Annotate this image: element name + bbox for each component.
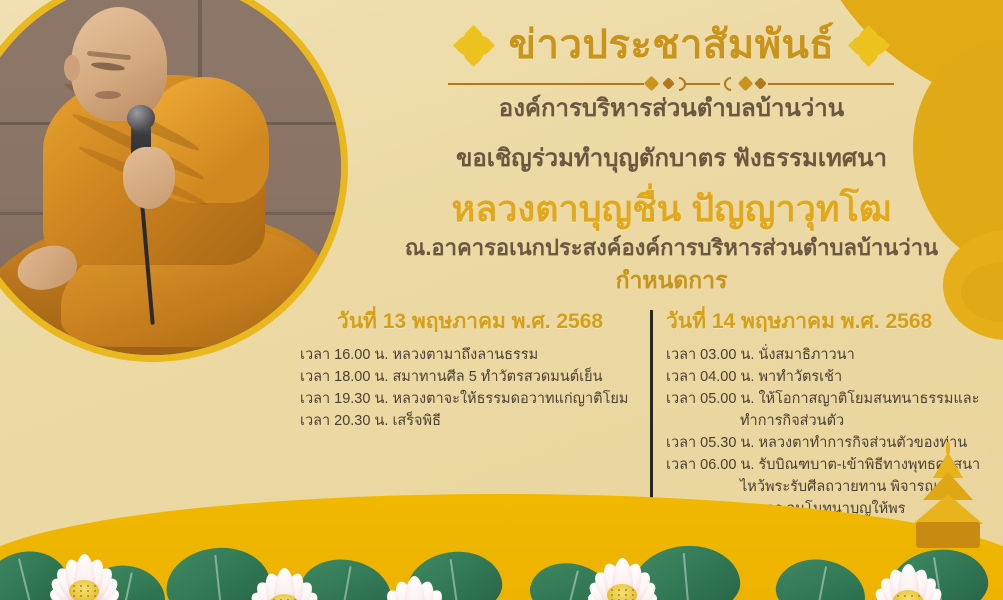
schedule-section: วันที่ 13 พฤษภาคม พ.ศ. 2568 เวลา 16.00 น… xyxy=(340,305,1003,520)
schedule-list-day1: เวลา 16.00 น. หลวงตามาถึงลานธรรมเวลา 18.… xyxy=(300,344,640,432)
quatrefoil-icon-left xyxy=(457,29,491,63)
invitation-line: ขอเชิญร่วมทำบุญตักบาตร ฟังธรรมเทศนา xyxy=(340,138,1003,177)
monk-right-hand xyxy=(123,147,175,209)
column-divider xyxy=(650,310,653,510)
lotus-flower xyxy=(570,528,674,600)
monk-name: หลวงตาบุญชื่น ปัญญาวุทโฒ xyxy=(340,180,1003,237)
lotus-flower xyxy=(232,538,336,600)
monk-head xyxy=(71,7,167,121)
schedule-item: เวลา 19.30 น. หลวงตาจะให้ธรรมดอวาทแก่ญาต… xyxy=(300,388,640,410)
schedule-item: เวลา 03.00 น. นั่งสมาธิภาวนา xyxy=(660,344,1003,366)
lotus-center xyxy=(69,580,99,600)
schedule-heading-day1: วันที่ 13 พฤษภาคม พ.ศ. 2568 xyxy=(300,305,640,338)
venue-line: ณ.อาคารอเนกประสงค์องค์การบริหารส่วนตำบลบ… xyxy=(340,230,1003,265)
monk-photo xyxy=(0,0,348,362)
announcement-poster: ข่าวประชาสัมพันธ์ องค์การบริหารส่วนตำบลบ… xyxy=(0,0,1003,600)
lotus-flower xyxy=(362,546,466,600)
monk-mouth xyxy=(95,91,121,99)
schedule-item: เวลา 20.30 น. เสร็จพิธี xyxy=(300,410,640,432)
title-row: ข่าวประชาสัมพันธ์ xyxy=(340,24,1003,67)
quatrefoil-icon-right xyxy=(852,29,886,63)
schedule-item: ทำการกิจส่วนตัว xyxy=(660,410,1003,432)
schedule-item: เวลา 16.00 น. หลวงตามาถึงลานธรรม xyxy=(300,344,640,366)
schedule-item: เวลา 18.00 น. สมาทานศีล 5 ทำวัตรสวดมนต์เ… xyxy=(300,366,640,388)
thai-pagoda-icon xyxy=(911,452,985,548)
page-title: ข่าวประชาสัมพันธ์ xyxy=(509,24,835,67)
schedule-item: เวลา 04.00 น. พาทำวัตรเช้า xyxy=(660,366,1003,388)
lotus-flower xyxy=(32,524,136,600)
microphone-head-icon xyxy=(127,105,155,131)
lotus-center xyxy=(607,584,637,600)
agenda-label: กำหนดการ xyxy=(340,263,1003,299)
schedule-heading-day2: วันที่ 14 พฤษภาคม พ.ศ. 2568 xyxy=(660,305,1003,338)
lotus-petal xyxy=(404,576,425,600)
monk-ear xyxy=(64,55,80,81)
schedule-item: เวลา 05.30 น. หลวงตาทำการกิจส่วนตัวของท่… xyxy=(660,432,1003,454)
schedule-column-day1: วันที่ 13 พฤษภาคม พ.ศ. 2568 เวลา 16.00 น… xyxy=(300,305,640,432)
schedule-item: เวลา 05.00 น. ให้โอกาสญาติโยมสนทนาธรรมแล… xyxy=(660,388,1003,410)
organization-name: องค์การบริหารส่วนตำบลบ้านว่าน xyxy=(340,88,1003,127)
